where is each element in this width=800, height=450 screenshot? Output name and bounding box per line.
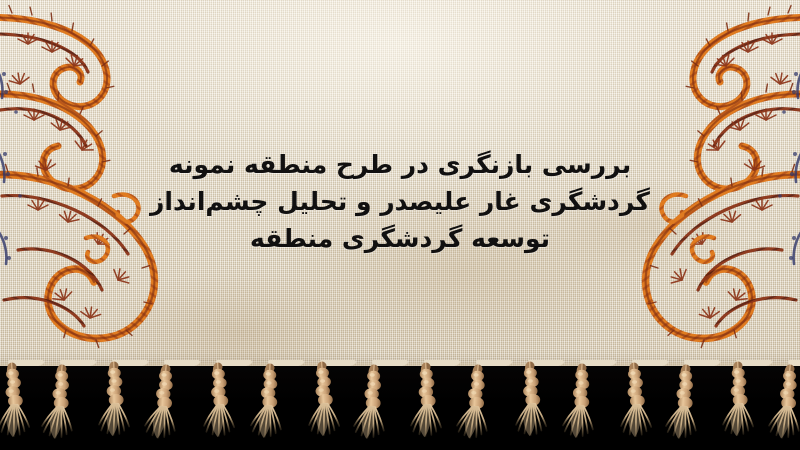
- title-line-3: توسعه گردشگری منطقه: [0, 220, 800, 257]
- title-slide: بررسی بازنگری در طرح منطقه نمونه گردشگری…: [0, 0, 800, 450]
- slide-title: بررسی بازنگری در طرح منطقه نمونه گردشگری…: [0, 146, 800, 257]
- black-lower-band: [0, 366, 800, 450]
- title-line-1: بررسی بازنگری در طرح منطقه نمونه: [0, 146, 800, 183]
- title-line-2: گردشگری غار علیصدر و تحلیل چشم‌انداز: [0, 183, 800, 220]
